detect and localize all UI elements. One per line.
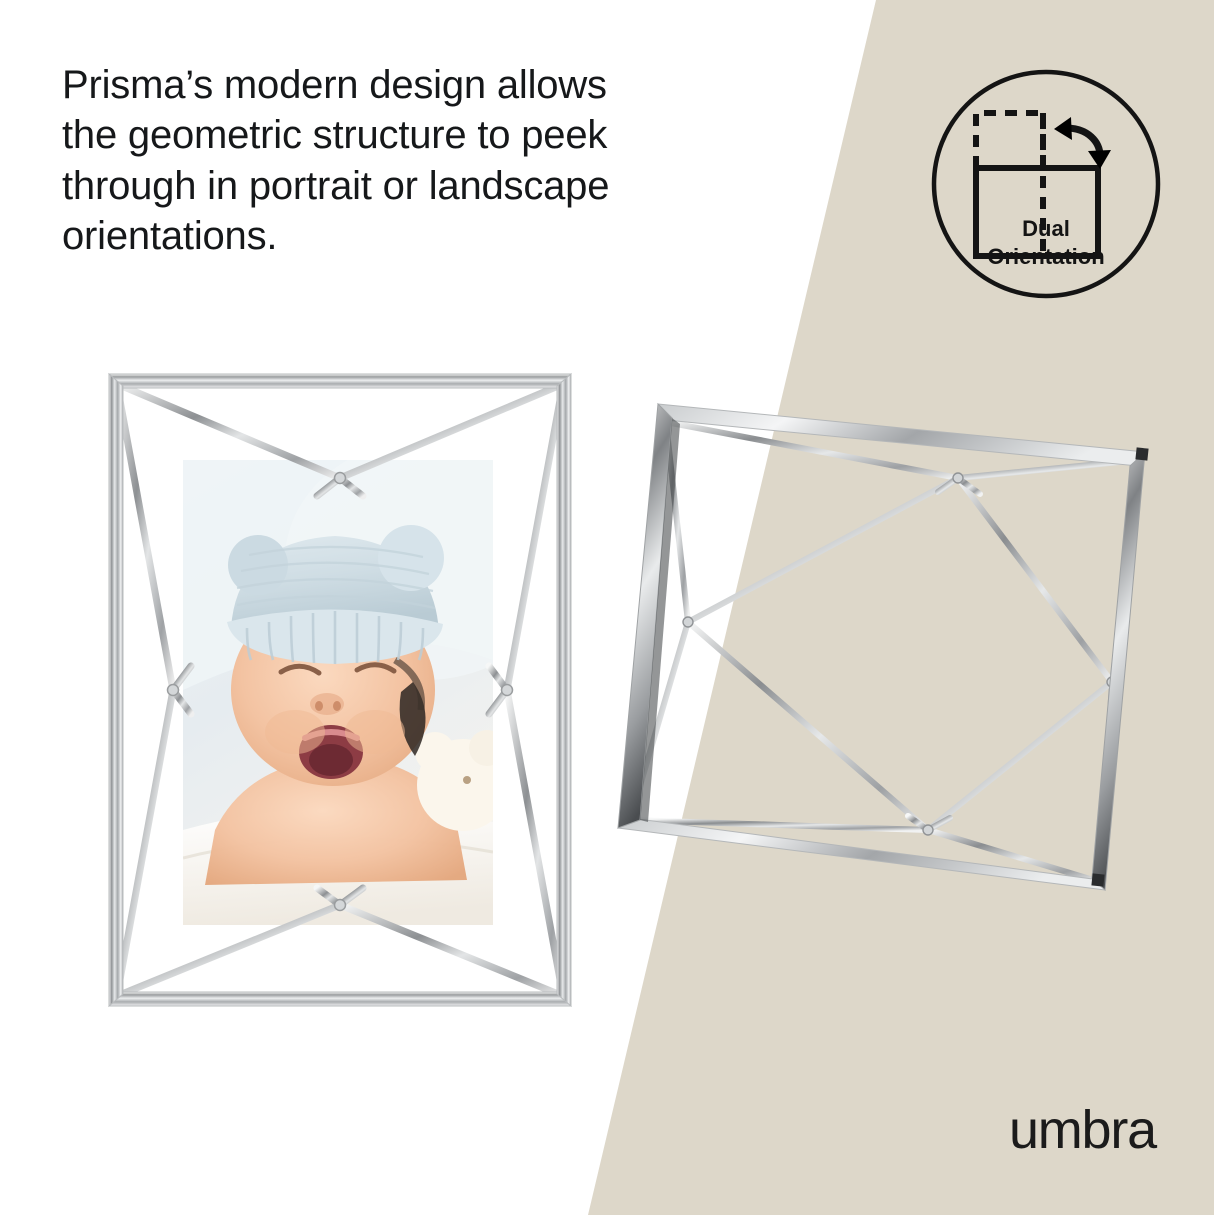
umbra-logo: umbra [1009, 1103, 1156, 1157]
knit-hat [227, 525, 444, 664]
landscape-rectangle-icon [976, 168, 1098, 256]
plush-toy [415, 730, 509, 831]
headline-text: Prisma’s modern design allows the geomet… [62, 60, 742, 262]
dual-orientation-badge: Dual Orientation [930, 68, 1162, 300]
frame-wire-nodes-landscape [683, 473, 1117, 835]
prisma-frame-portrait [95, 360, 585, 1020]
badge-label-line2: Orientation [987, 244, 1104, 269]
prisma-frame-landscape [600, 390, 1180, 910]
product-marketing-image: Prisma’s modern design allows the geomet… [0, 0, 1214, 1215]
rotation-arrow-head-left [1054, 117, 1072, 140]
portrait-rectangle-dashed-icon [976, 113, 1043, 168]
frame-wire-structure-landscape [630, 422, 1140, 882]
frame-outer-rails-landscape [618, 404, 1149, 890]
badge-label-line1: Dual [1022, 216, 1070, 241]
